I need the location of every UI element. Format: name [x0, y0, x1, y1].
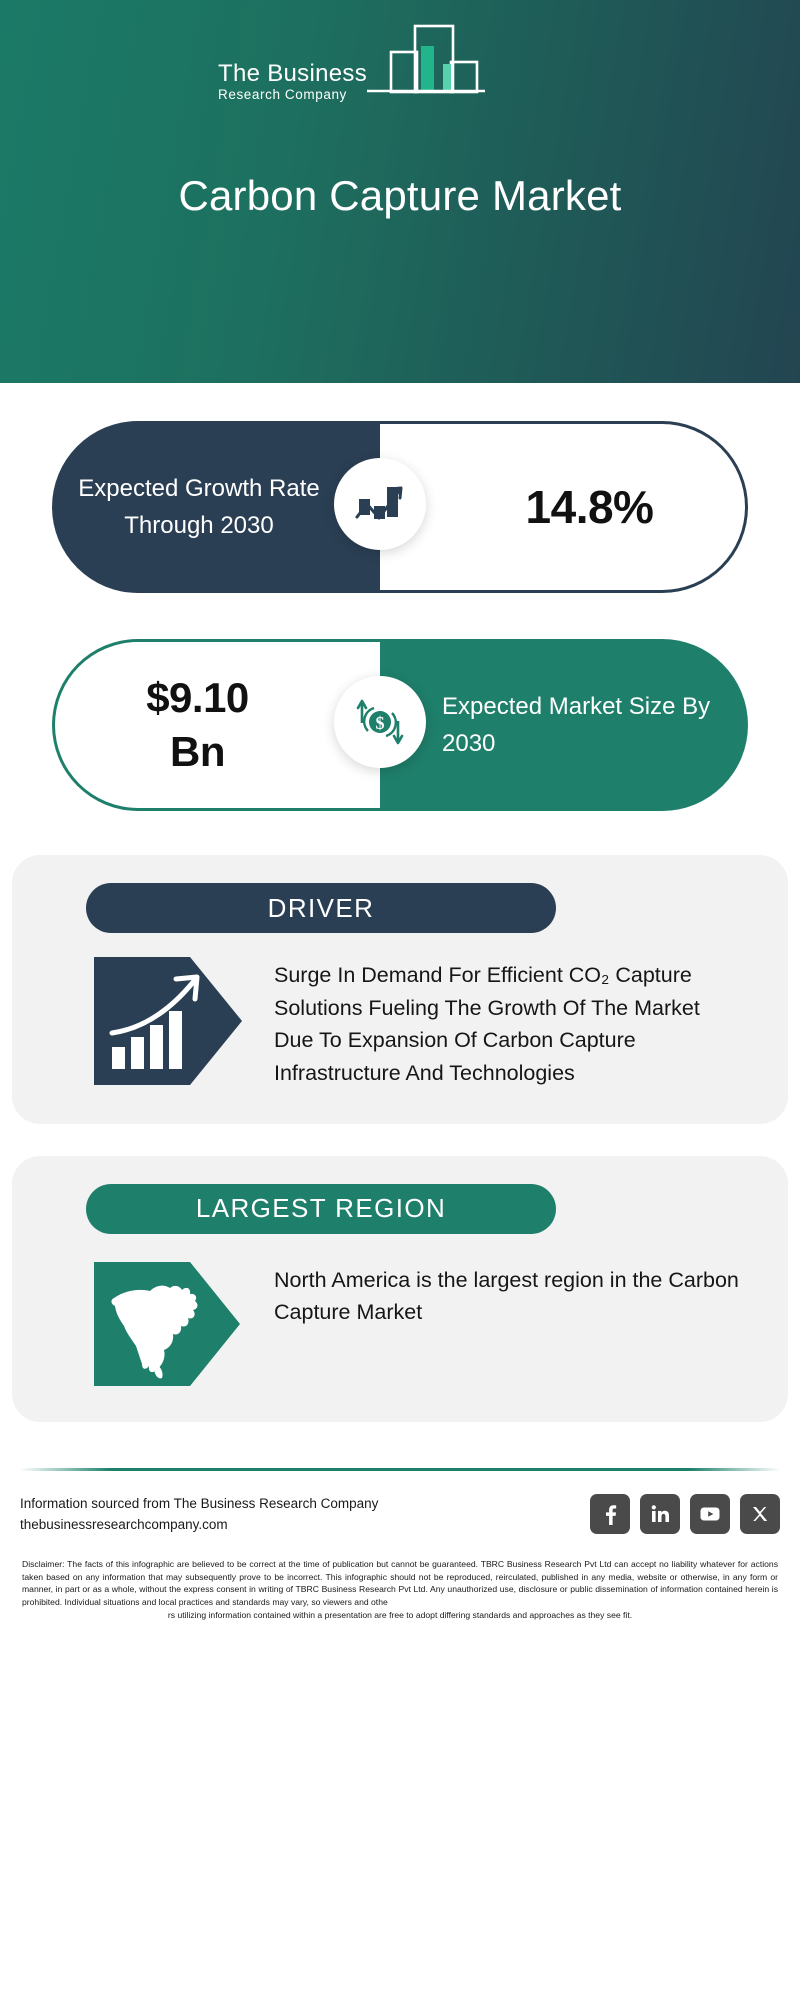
- market-size-value: $9.10 Bn: [146, 671, 249, 779]
- market-size-value-line-1: $9.10: [146, 671, 249, 725]
- disclaimer-text: Disclaimer: The facts of this infographi…: [12, 1558, 788, 1622]
- largest-region-panel: LARGEST REGION North America is the larg…: [12, 1156, 788, 1422]
- market-size-value-container: $9.10 Bn: [52, 639, 380, 811]
- dollar-cycle-icon: $: [334, 676, 426, 768]
- bar-chart-logo-mark-icon: [365, 22, 485, 107]
- largest-region-text: North America is the largest region in t…: [274, 1260, 742, 1329]
- page-title: Carbon Capture Market: [0, 172, 800, 220]
- driver-heading: DRIVER: [86, 883, 556, 933]
- social-links: [590, 1494, 780, 1534]
- logo-text: The Business Research Company: [218, 61, 367, 109]
- company-logo: The Business Research Company: [218, 22, 485, 109]
- source-website[interactable]: thebusinessresearchcompany.com: [20, 1514, 378, 1536]
- footer-row: Information sourced from The Business Re…: [12, 1471, 788, 1536]
- driver-panel: DRIVER Surge In Demand For Efficient CO₂…: [12, 855, 788, 1124]
- infographic-page: The Business Research Company Carbon Cap…: [0, 0, 800, 2000]
- logo-line-1: The Business: [218, 61, 367, 86]
- stats-section: Expected Growth Rate Through 2030 14.8% …: [0, 415, 800, 811]
- market-size-label: Expected Market Size By 2030: [380, 639, 748, 811]
- facebook-icon[interactable]: [590, 1494, 630, 1534]
- youtube-icon[interactable]: [690, 1494, 730, 1534]
- growth-rate-value-container: 14.8%: [380, 421, 748, 593]
- market-size-value-line-2: Bn: [146, 725, 249, 779]
- driver-text: Surge In Demand For Efficient CO₂ Captur…: [274, 955, 742, 1090]
- north-america-map-icon: [94, 1260, 242, 1388]
- stat-card-growth-rate: Expected Growth Rate Through 2030 14.8%: [52, 415, 748, 593]
- x-twitter-icon[interactable]: [740, 1494, 780, 1534]
- header-banner: The Business Research Company Carbon Cap…: [0, 0, 800, 383]
- stat-card-market-size: $9.10 Bn $ Expected Market Size By 2030: [52, 633, 748, 811]
- growth-rate-label: Expected Growth Rate Through 2030: [52, 421, 380, 593]
- growth-rate-value: 14.8%: [526, 480, 654, 534]
- svg-text:$: $: [376, 713, 385, 733]
- driver-body: Surge In Demand For Efficient CO₂ Captur…: [12, 933, 788, 1090]
- growth-bar-arrow-icon: [94, 955, 242, 1087]
- disclaimer-last-line: rs utilizing information contained withi…: [22, 1609, 778, 1622]
- source-info: Information sourced from The Business Re…: [20, 1493, 378, 1536]
- linkedin-icon[interactable]: [640, 1494, 680, 1534]
- growth-chart-arrow-icon: [334, 458, 426, 550]
- source-line-1: Information sourced from The Business Re…: [20, 1493, 378, 1515]
- largest-region-body: North America is the largest region in t…: [12, 1234, 788, 1388]
- logo-line-2: Research Company: [218, 87, 367, 103]
- largest-region-heading: LARGEST REGION: [86, 1184, 556, 1234]
- footer: Information sourced from The Business Re…: [0, 1468, 800, 1622]
- disclaimer-main: Disclaimer: The facts of this infographi…: [22, 1559, 778, 1607]
